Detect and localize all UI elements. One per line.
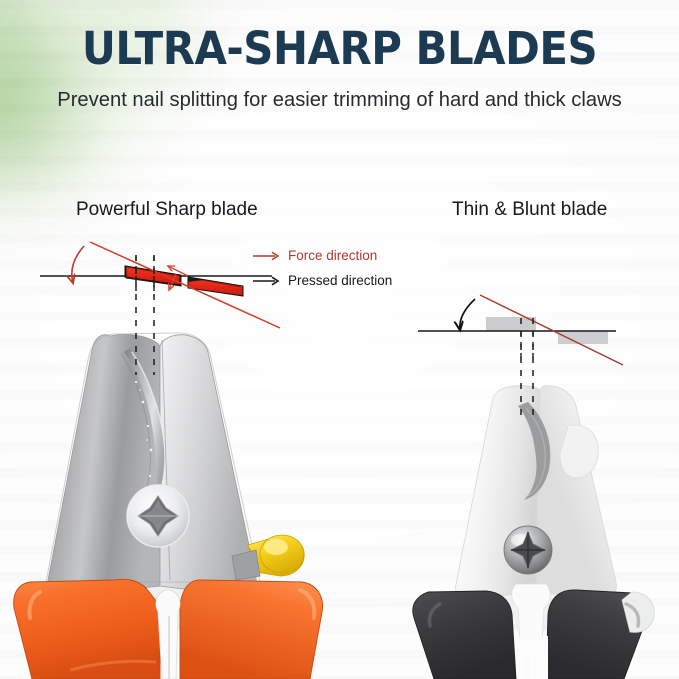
arrow-right-icon	[252, 275, 282, 287]
clipper-handle-right[interactable]	[180, 580, 323, 679]
legend-label-force: Force direction	[288, 248, 377, 263]
page-subtitle: Prevent nail splitting for easier trimmi…	[5, 90, 674, 111]
white-handled-clipper	[400, 378, 679, 679]
legend-label-pressed: Pressed direction	[288, 273, 392, 288]
sharp-blade-wedges	[125, 266, 243, 296]
clipper-right-body	[536, 386, 616, 599]
page-title: ULTRA-SHARP BLADES	[24, 26, 655, 71]
legend-item-pressed: Pressed direction	[252, 270, 392, 291]
pivot-screw	[127, 485, 189, 547]
side-guard-bump	[560, 425, 598, 478]
blunt-blade-angle-diagram	[418, 285, 658, 395]
panel-heading-right: Thin & Blunt blade	[452, 199, 607, 221]
pivot-screw	[504, 526, 552, 574]
guide-ticks	[521, 331, 533, 363]
legend: Force direction Pressed direction	[252, 245, 392, 291]
clipper-handle-left[interactable]	[413, 591, 516, 679]
blade-angle-arc	[460, 299, 475, 330]
orange-handled-steel-clipper	[10, 330, 330, 679]
arrow-right-icon	[252, 250, 282, 262]
blade-angle-arc	[72, 246, 84, 283]
legend-item-force: Force direction	[252, 245, 392, 266]
infographic-canvas: ULTRA-SHARP BLADES Prevent nail splittin…	[0, 0, 679, 679]
metal-spring	[518, 636, 548, 679]
panel-heading-left: Powerful Sharp blade	[76, 199, 258, 221]
header: ULTRA-SHARP BLADES Prevent nail splittin…	[0, 0, 679, 111]
